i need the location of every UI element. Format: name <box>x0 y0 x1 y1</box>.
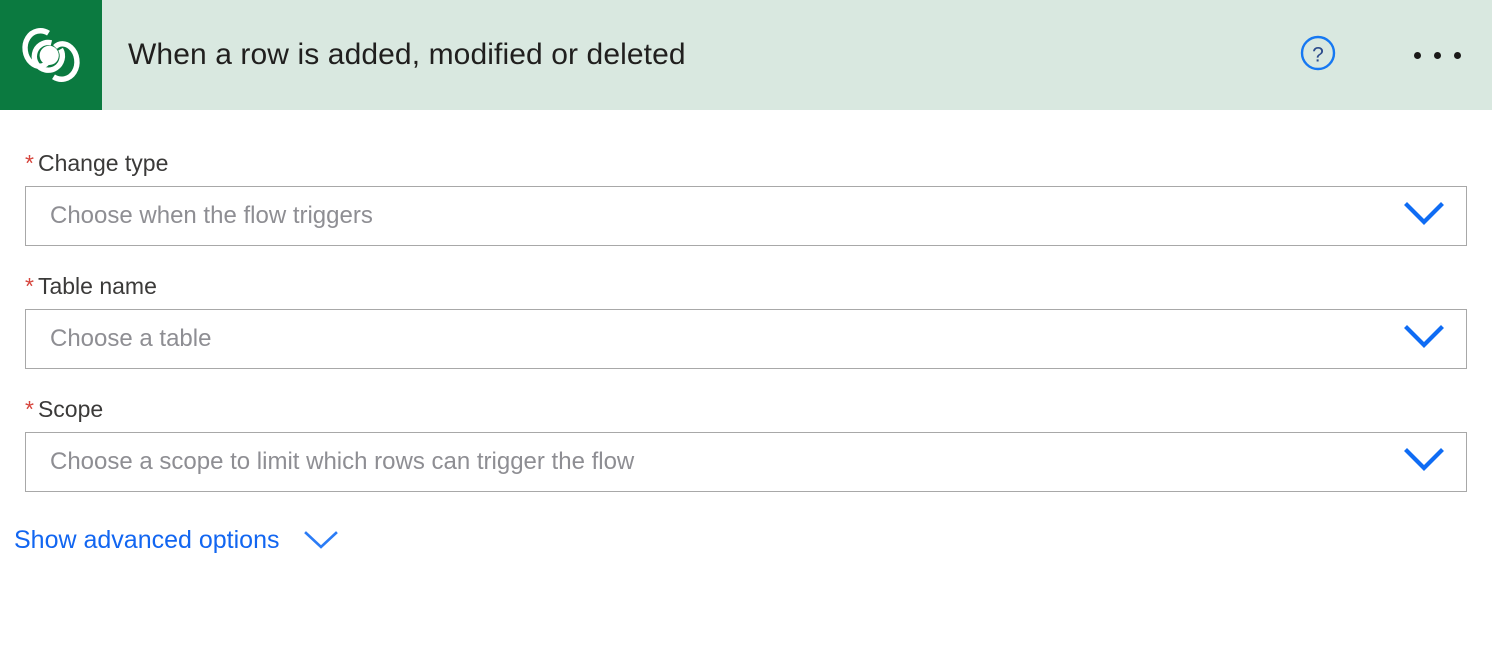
required-asterisk: * <box>25 150 34 176</box>
page-title: When a row is added, modified or deleted <box>102 38 1292 72</box>
more-horizontal-icon-dot-2 <box>1434 52 1441 59</box>
scope-chevron-button[interactable] <box>1382 433 1466 491</box>
field-table-name-label-text: Table name <box>38 273 157 299</box>
field-table-name: *Table name Choose a table <box>0 271 1492 369</box>
required-asterisk: * <box>25 396 34 422</box>
connector-brand-tile <box>0 0 102 110</box>
field-scope-label-text: Scope <box>38 396 103 422</box>
svg-text:?: ? <box>1312 43 1324 66</box>
required-asterisk: * <box>25 273 34 299</box>
show-advanced-options-button[interactable]: Show advanced options <box>0 525 364 555</box>
more-options-button[interactable] <box>1406 29 1468 81</box>
scope-dropdown[interactable]: Choose a scope to limit which rows can t… <box>25 432 1467 492</box>
field-change-type-label: *Change type <box>25 148 1467 178</box>
trigger-form: *Change type Choose when the flow trigge… <box>0 110 1492 555</box>
change-type-chevron-button[interactable] <box>1382 187 1466 245</box>
more-horizontal-icon-dot-1 <box>1414 52 1421 59</box>
chevron-down-icon <box>1404 201 1444 232</box>
table-name-chevron-button[interactable] <box>1382 310 1466 368</box>
more-horizontal-icon-dot-3 <box>1454 52 1461 59</box>
field-table-name-label: *Table name <box>25 271 1467 301</box>
change-type-dropdown[interactable]: Choose when the flow triggers <box>25 186 1467 246</box>
table-name-dropdown[interactable]: Choose a table <box>25 309 1467 369</box>
field-change-type: *Change type Choose when the flow trigge… <box>0 148 1492 246</box>
dataverse-logo-icon <box>15 19 87 91</box>
field-scope: *Scope Choose a scope to limit which row… <box>0 394 1492 492</box>
header-actions: ? <box>1292 0 1492 110</box>
help-button[interactable]: ? <box>1292 29 1344 81</box>
show-advanced-options-label: Show advanced options <box>14 525 279 555</box>
chevron-down-icon <box>1404 324 1444 355</box>
chevron-down-icon <box>303 529 339 551</box>
change-type-input[interactable]: Choose when the flow triggers <box>26 201 1382 231</box>
field-change-type-label-text: Change type <box>38 150 168 176</box>
help-question-circle-icon: ? <box>1298 33 1338 78</box>
trigger-card: When a row is added, modified or deleted… <box>0 0 1492 652</box>
card-header: When a row is added, modified or deleted… <box>0 0 1492 110</box>
chevron-down-icon <box>1404 447 1444 478</box>
field-scope-label: *Scope <box>25 394 1467 424</box>
table-name-input[interactable]: Choose a table <box>26 324 1382 354</box>
scope-input[interactable]: Choose a scope to limit which rows can t… <box>26 447 1382 477</box>
